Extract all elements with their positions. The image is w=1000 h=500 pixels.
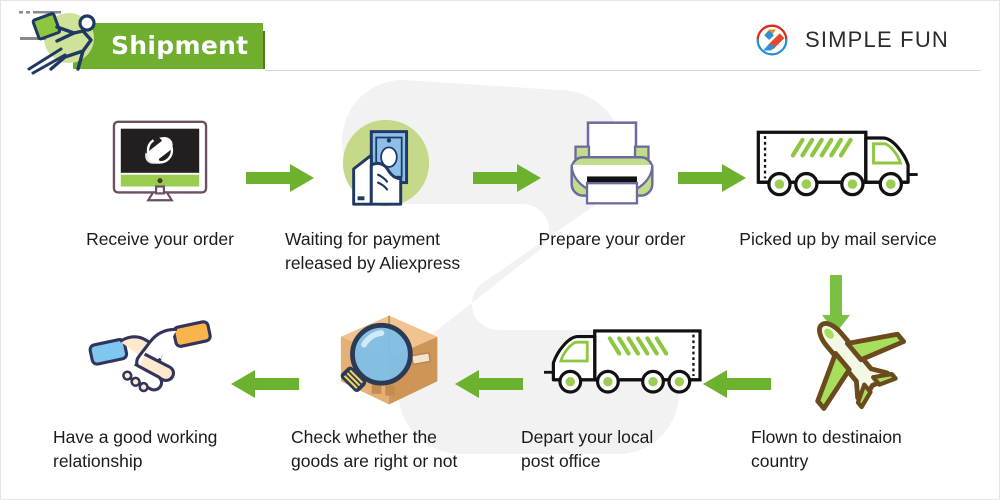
simple-fun-s-logo [751, 19, 793, 61]
airplane-icon [739, 311, 965, 411]
page-title: Shipment [111, 31, 248, 60]
page-header: Shipment SIMPLE FUN [1, 1, 1000, 79]
shipment-infographic: Shipment SIMPLE FUN [0, 0, 1000, 500]
brand-name: SIMPLE FUN [805, 27, 949, 53]
delivery-truck-right-icon [725, 113, 951, 213]
flow-step-1: Receive your order [47, 113, 273, 251]
flow-step-2-label: Waiting for payment released by Aliexpre… [273, 227, 499, 275]
brand-logo: SIMPLE FUN [751, 19, 949, 61]
running-courier-icon [17, 7, 117, 77]
flow-step-4: Picked up by mail service [725, 113, 951, 251]
flow-step-7-label: Check whether the goods are right or not [279, 425, 505, 473]
flow-step-8-label: Have a good working relationship [41, 425, 267, 473]
flow-step-2: Waiting for payment released by Aliexpre… [273, 113, 499, 275]
header-divider [265, 70, 981, 71]
flow-step-3-label: Prepare your order [499, 227, 725, 251]
flow-step-5-label: Flown to destinaion country [739, 425, 965, 473]
hand-holding-banknote-icon [273, 113, 499, 213]
desktop-monitor-icon [47, 113, 273, 213]
flow-step-6-label: Depart your local post office [509, 425, 735, 473]
flow-step-4-label: Picked up by mail service [725, 227, 951, 251]
flow-step-1-label: Receive your order [47, 227, 273, 251]
flow-step-5: Flown to destinaion country [739, 311, 965, 473]
